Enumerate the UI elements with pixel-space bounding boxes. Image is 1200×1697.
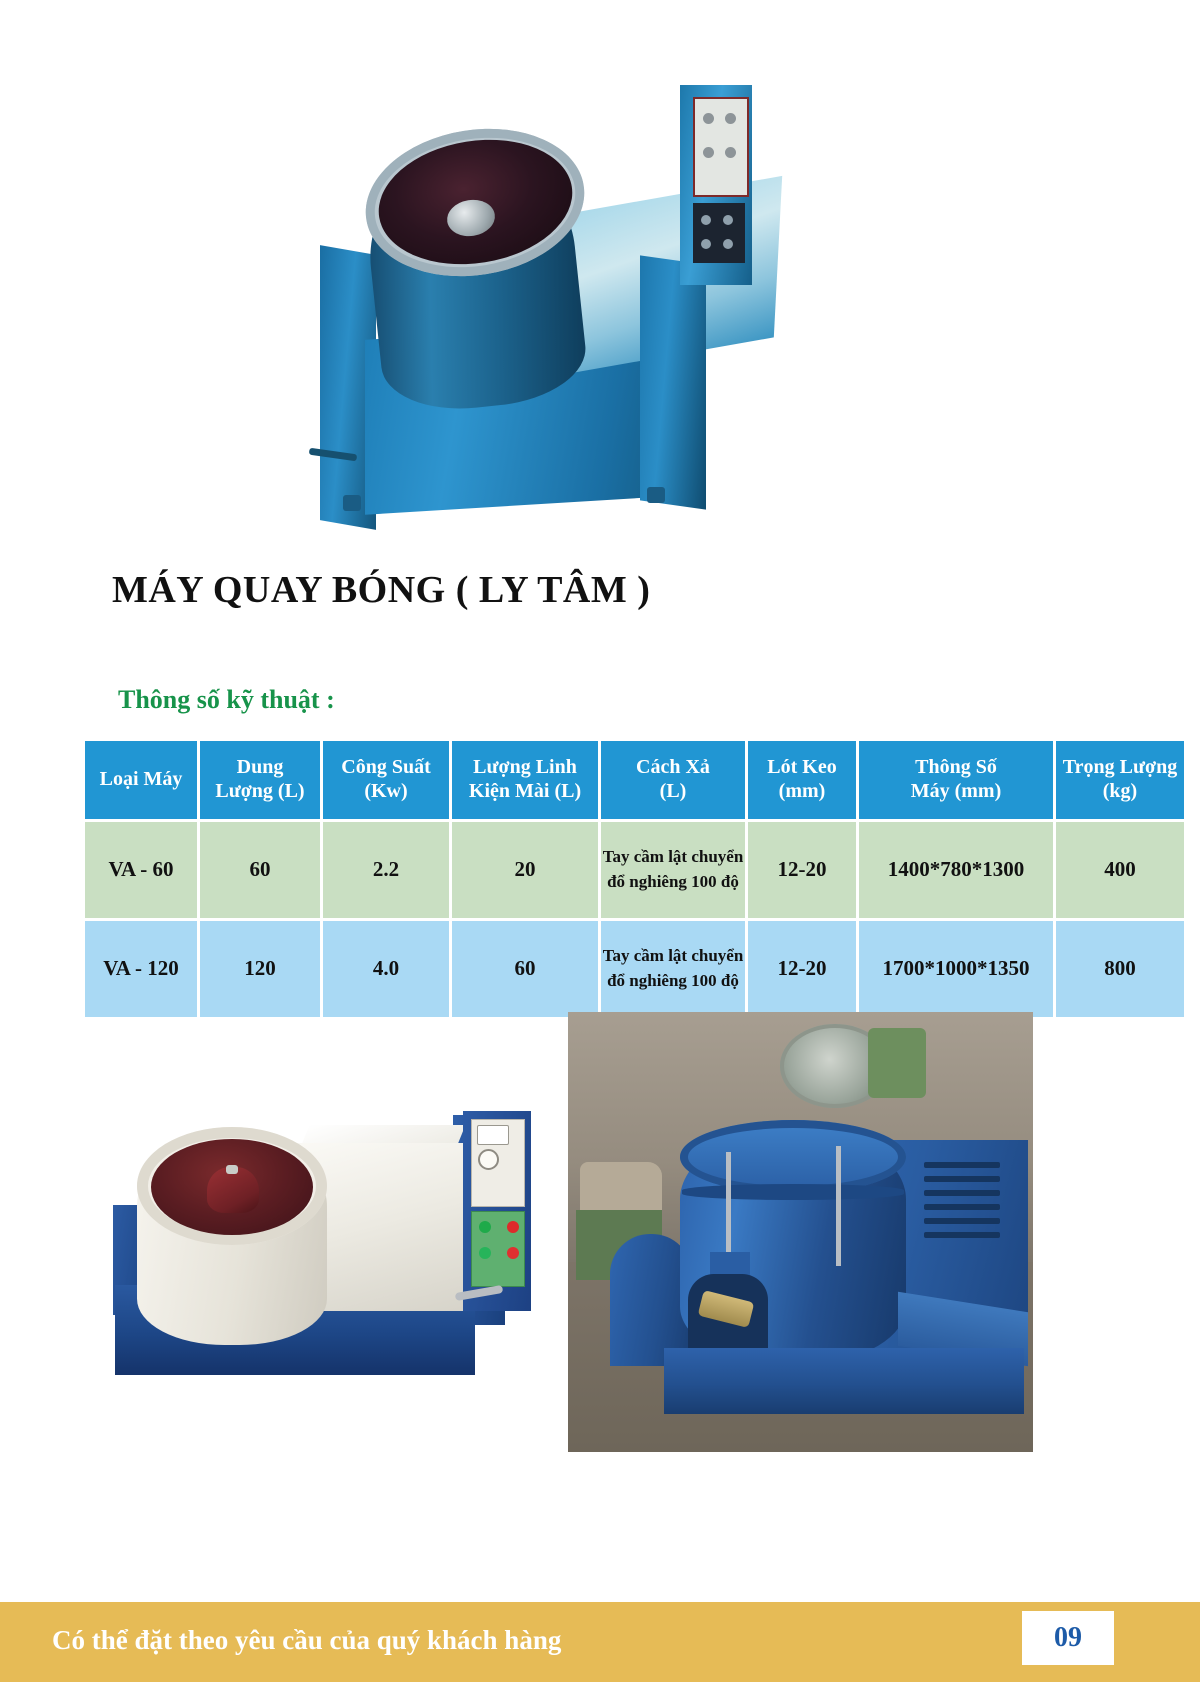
column-header-dimensions: Thông Số Máy (mm) [859,741,1053,819]
cell-media-volume: 60 [452,921,598,1017]
fan-motor-housing [868,1028,926,1098]
cell-capacity: 60 [200,822,320,918]
column-header-discharge: Cách Xả (L) [601,741,745,819]
spec-heading: Thông số kỹ thuật : [118,685,335,715]
column-header-media-volume: Lượng Linh Kiện Mài (L) [452,741,598,819]
header-line: Lượng (L) [215,780,304,802]
red-stop-button-icon [507,1247,519,1259]
control-knob-icon [725,113,736,124]
header-line: Lót Keo [767,756,836,778]
machine-foot [343,495,361,511]
control-knob-icon [703,147,714,158]
vent-slot [924,1190,1000,1196]
push-button-icon [723,239,733,249]
cell-media-volume: 20 [452,822,598,918]
machine-base-frame [664,1348,1024,1414]
table-row: VA - 60 60 2.2 20 Tay cầm lật chuyển đổ … [85,822,1184,918]
header-line: Công Suất [341,756,430,778]
header-line: Trọng Lượng [1063,756,1177,778]
header-line: Máy (mm) [911,780,1002,802]
table-row: VA - 120 120 4.0 60 Tay cầm lật chuyển đ… [85,921,1184,1017]
cell-capacity: 120 [200,921,320,1017]
header-line: Kiện Mài (L) [469,780,581,802]
cell-liner: 12-20 [748,921,856,1017]
header-line: (L) [660,780,687,802]
machine-button-panel [693,203,745,263]
machine-foot [647,487,665,503]
cell-model: VA - 60 [85,822,197,918]
machine-hub-bolt [226,1165,238,1174]
vent-slot [924,1204,1000,1210]
header-line: Thông Số [915,756,997,778]
vent-slot [924,1162,1000,1168]
header-line: Dung [237,756,284,778]
cell-dimensions: 1400*780*1300 [859,822,1053,918]
header-line: Lượng Linh [473,756,577,778]
column-header-power: Công Suất (Kw) [323,741,449,819]
machine-clamp-rod [836,1146,841,1266]
gauge-icon [477,1125,509,1145]
vent-slot [924,1176,1000,1182]
cell-power: 2.2 [323,822,449,918]
machine-vent-grille [924,1162,1000,1252]
push-button-icon [701,239,711,249]
rotary-dial-icon [478,1149,499,1170]
cell-weight: 800 [1056,921,1184,1017]
column-header-liner: Lót Keo (mm) [748,741,856,819]
push-button-icon [701,215,711,225]
header-line: (kg) [1103,780,1137,802]
cell-discharge: Tay cầm lật chuyển đổ nghiêng 100 độ [601,921,745,1017]
header-line: (Kw) [364,780,407,802]
machine-drum-lip [680,1120,906,1194]
header-line: Loại Máy [100,768,183,790]
cell-power: 4.0 [323,921,449,1017]
green-start-button-icon [479,1247,491,1259]
footer-note: Có thể đặt theo yêu cầu của quý khách hà… [52,1625,561,1656]
green-start-button-icon [479,1221,491,1233]
page-number: 09 [1054,1622,1082,1654]
machine-control-panel-face [693,97,749,197]
page-number-box: 09 [1022,1611,1114,1665]
vent-slot [924,1218,1000,1224]
control-knob-icon [703,113,714,124]
vent-slot [924,1232,1000,1238]
push-button-icon [723,215,733,225]
machine-drum-band [682,1184,904,1200]
header-line: Cách Xả [636,756,710,778]
cell-model: VA - 120 [85,921,197,1017]
cell-weight: 400 [1056,822,1184,918]
hero-machine-photo [295,75,785,485]
table-header-row: Loại Máy Dung Lượng (L) Công Suất (Kw) L… [85,741,1184,819]
header-line: (mm) [779,780,826,802]
column-header-model: Loại Máy [85,741,197,819]
column-header-capacity: Dung Lượng (L) [200,741,320,819]
bottom-right-machine-photo [568,1012,1033,1452]
cell-liner: 12-20 [748,822,856,918]
control-knob-icon [725,147,736,158]
cell-discharge: Tay cầm lật chuyển đổ nghiêng 100 độ [601,822,745,918]
machine-right-support [640,255,706,509]
bottom-left-machine-photo [95,1075,545,1405]
specifications-table: Loại Máy Dung Lượng (L) Công Suất (Kw) L… [82,738,1187,1020]
red-stop-button-icon [507,1221,519,1233]
column-header-weight: Trọng Lượng (kg) [1056,741,1184,819]
page-title: MÁY QUAY BÓNG ( LY TÂM ) [112,568,650,612]
cell-dimensions: 1700*1000*1350 [859,921,1053,1017]
